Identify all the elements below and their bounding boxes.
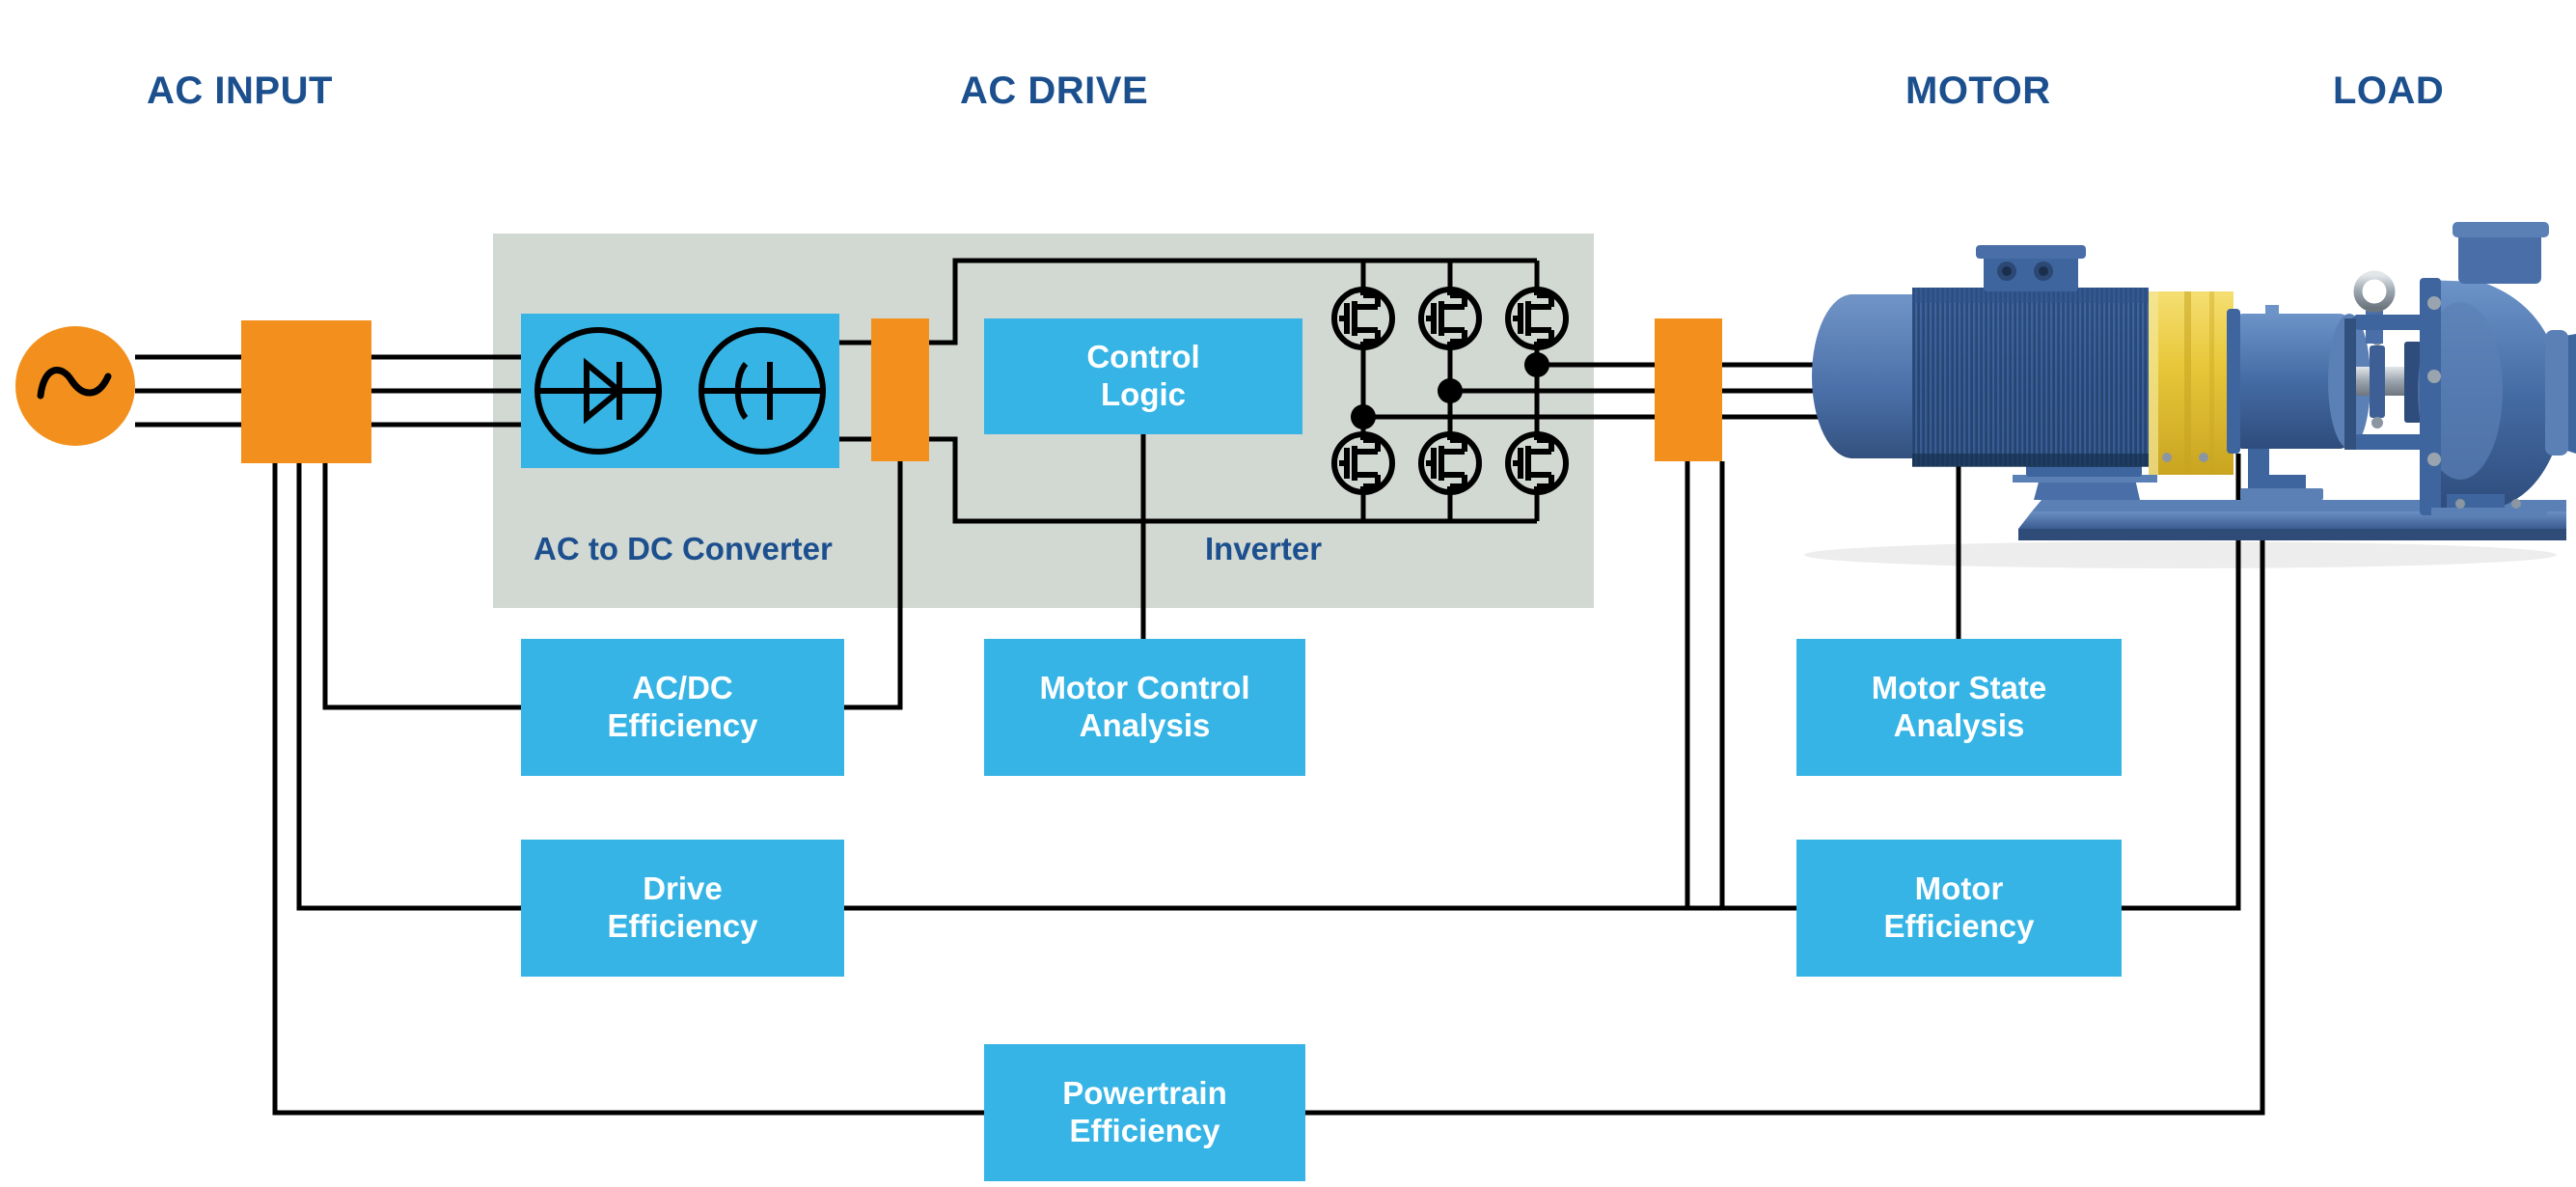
motor-state-analysis-box[interactable]: Motor State Analysis [1796,639,2122,776]
control-logic-line-1: Control [1086,339,1199,376]
zone-label-inverter: Inverter [1205,531,1322,567]
motor-endbell [1812,294,1918,458]
control-logic-line-2: Logic [1086,376,1199,414]
motor-body [1912,288,2149,467]
igbt-switch-symbol [1421,290,1479,347]
igbt-switch-symbol [1334,290,1392,347]
coupling-guard [2149,291,2233,475]
igbt-switch-symbol [1334,434,1392,492]
powertrain-efficiency-line-1: Powertrain [1062,1075,1227,1113]
motor-state-analysis-line-2: Analysis [1872,707,2047,745]
motor-control-analysis-line-1: Motor Control [1039,670,1249,707]
motor-efficiency-box[interactable]: Motor Efficiency [1796,840,2122,977]
pump-casing [2418,222,2576,515]
motor-and-pump-illustration [1795,222,2576,598]
motor-control-analysis-box[interactable]: Motor Control Analysis [984,639,1305,776]
motor-state-analysis-line-1: Motor State [1872,670,2047,707]
control-logic-box[interactable]: Control Logic [984,318,1302,434]
drive-efficiency-line-1: Drive [608,870,758,908]
motor-efficiency-line-2: Efficiency [1884,908,2035,946]
diagram-canvas: AC INPUT AC DRIVE MOTOR LOAD [0,0,2576,1187]
powertrain-efficiency-box[interactable]: Powertrain Efficiency [984,1044,1305,1181]
ac-dc-efficiency-line-1: AC/DC [608,670,758,707]
igbt-switch-symbol [1421,434,1479,492]
powertrain-efficiency-line-2: Efficiency [1062,1113,1227,1150]
ac-dc-efficiency-line-2: Efficiency [608,707,758,745]
drive-efficiency-box[interactable]: Drive Efficiency [521,840,844,977]
drive-efficiency-line-2: Efficiency [608,908,758,946]
motor-efficiency-line-1: Motor [1884,870,2035,908]
ac-dc-efficiency-box[interactable]: AC/DC Efficiency [521,639,844,776]
igbt-switch-symbol [1508,434,1566,492]
motor-control-analysis-line-2: Analysis [1039,707,1249,745]
igbt-switch-symbol [1508,290,1566,347]
motor-terminal-box [1976,245,2086,291]
zone-label-ac-to-dc-converter: AC to DC Converter [534,531,833,567]
